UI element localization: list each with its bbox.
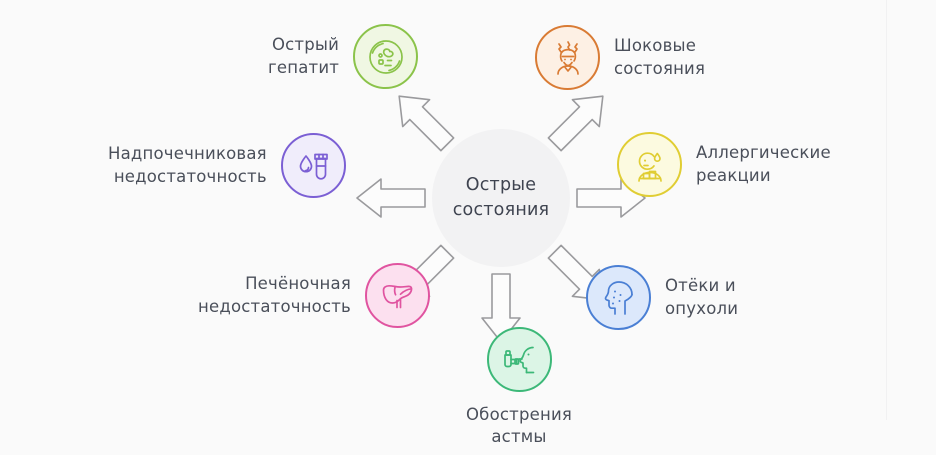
arrow-up-right bbox=[541, 83, 616, 158]
sneezing-person-icon[interactable] bbox=[617, 132, 682, 197]
virus-cell-icon[interactable] bbox=[353, 24, 418, 89]
stressed-person-icon[interactable] bbox=[535, 25, 600, 90]
test-tube-drop-icon[interactable] bbox=[281, 133, 346, 198]
swollen-head-icon[interactable] bbox=[586, 265, 651, 330]
node-adrenal[interactable]: Надпочечниковая недостаточность bbox=[108, 133, 346, 198]
node-edema-label: Отёки и опухоли bbox=[665, 275, 738, 320]
diagram-canvas: Острые состояния Острый гепатит bbox=[0, 0, 936, 455]
hub-circle: Острые состояния bbox=[432, 129, 570, 267]
node-liver-label: Печёночная недостаточность bbox=[198, 273, 351, 318]
node-asthma[interactable]: Обострения астмы bbox=[466, 327, 572, 449]
node-adrenal-label: Надпочечниковая недостаточность bbox=[108, 143, 267, 188]
node-asthma-label: Обострения астмы bbox=[466, 404, 572, 449]
node-shock-label: Шоковые состояния bbox=[614, 35, 705, 80]
inhaler-icon[interactable] bbox=[487, 327, 552, 392]
arrow-up-left bbox=[386, 83, 461, 158]
node-hepatitis-label: Острый гепатит bbox=[268, 34, 339, 79]
liver-icon[interactable] bbox=[365, 263, 430, 328]
hub-title: Острые состояния bbox=[453, 173, 550, 224]
node-liver[interactable]: Печёночная недостаточность bbox=[198, 263, 430, 328]
node-hepatitis[interactable]: Острый гепатит bbox=[268, 24, 418, 89]
node-shock[interactable]: Шоковые состояния bbox=[535, 25, 705, 90]
node-edema[interactable]: Отёки и опухоли bbox=[586, 265, 738, 330]
node-allergy[interactable]: Аллергические реакции bbox=[617, 132, 831, 197]
arrow-left bbox=[357, 179, 425, 217]
node-allergy-label: Аллергические реакции bbox=[696, 142, 831, 187]
